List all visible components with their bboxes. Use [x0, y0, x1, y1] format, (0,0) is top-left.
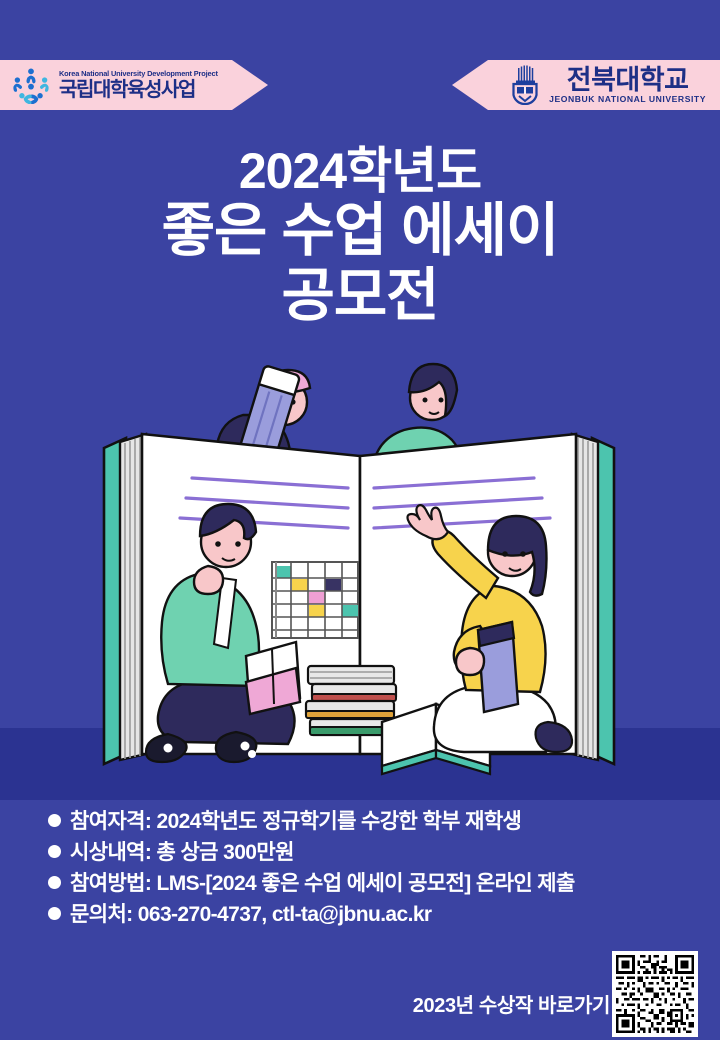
banner-jbnu: 전북대학교 JEONBUK NATIONAL UNIVERSITY	[452, 60, 720, 110]
detail-text-eligibility: 참여자격: 2024학년도 정규학기를 수강한 학부 재학생	[70, 806, 521, 837]
bullet-dot-icon	[48, 845, 61, 858]
title-line-1: 2024학년도	[0, 143, 720, 199]
page-title: 2024학년도 좋은 수업 에세이 공모전	[0, 143, 720, 329]
details-list: 참여자격: 2024학년도 정규학기를 수강한 학부 재학생 시상내역: 총 상…	[48, 806, 708, 930]
bullet-dot-icon	[48, 876, 61, 889]
reading-student-hand-chin	[194, 566, 223, 594]
wall-calendar-grid	[272, 562, 358, 638]
banner-knudp: Korea National University Development Pr…	[0, 60, 268, 110]
yellow-student-hand-on-book	[456, 648, 484, 675]
bullet-dot-icon	[48, 814, 61, 827]
people-circle-logo-icon	[10, 66, 52, 104]
list-item: 참여방법: LMS-[2024 좋은 수업 에세이 공모전] 온라인 제출	[48, 868, 708, 899]
jbnu-crest-emblem-icon	[510, 65, 540, 105]
list-item: 참여자격: 2024학년도 정규학기를 수강한 학부 재학생	[48, 806, 708, 837]
title-line-3: 공모전	[0, 264, 720, 329]
title-line-2: 좋은 수업 에세이	[0, 199, 720, 264]
jbnu-text-block: 전북대학교 JEONBUK NATIONAL UNIVERSITY	[549, 66, 706, 104]
knudp-text-block: Korea National University Development Pr…	[59, 70, 218, 99]
detail-text-prize: 시상내역: 총 상금 300만원	[70, 837, 294, 868]
detail-text-howto: 참여방법: LMS-[2024 좋은 수업 에세이 공모전] 온라인 제출	[70, 868, 575, 899]
poster-canvas: Korea National University Development Pr…	[0, 0, 720, 1040]
qr-code-icon[interactable]	[612, 951, 698, 1037]
knudp-korean-label: 국립대학육성사업	[59, 80, 218, 100]
qr-caption: 2023년 수상작 바로가기	[413, 989, 610, 1018]
list-item: 시상내역: 총 상금 300만원	[48, 837, 708, 868]
list-item: 문의처: 063-270-4737, ctl-ta@jbnu.ac.kr	[48, 899, 708, 930]
detail-text-contact: 문의처: 063-270-4737, ctl-ta@jbnu.ac.kr	[70, 899, 431, 930]
jbnu-english-label: JEONBUK NATIONAL UNIVERSITY	[549, 95, 706, 104]
bullet-dot-icon	[48, 907, 61, 920]
knudp-english-label: Korea National University Development Pr…	[59, 70, 218, 78]
open-book-students-illustration	[0, 330, 720, 800]
jbnu-korean-label: 전북대학교	[567, 66, 689, 94]
